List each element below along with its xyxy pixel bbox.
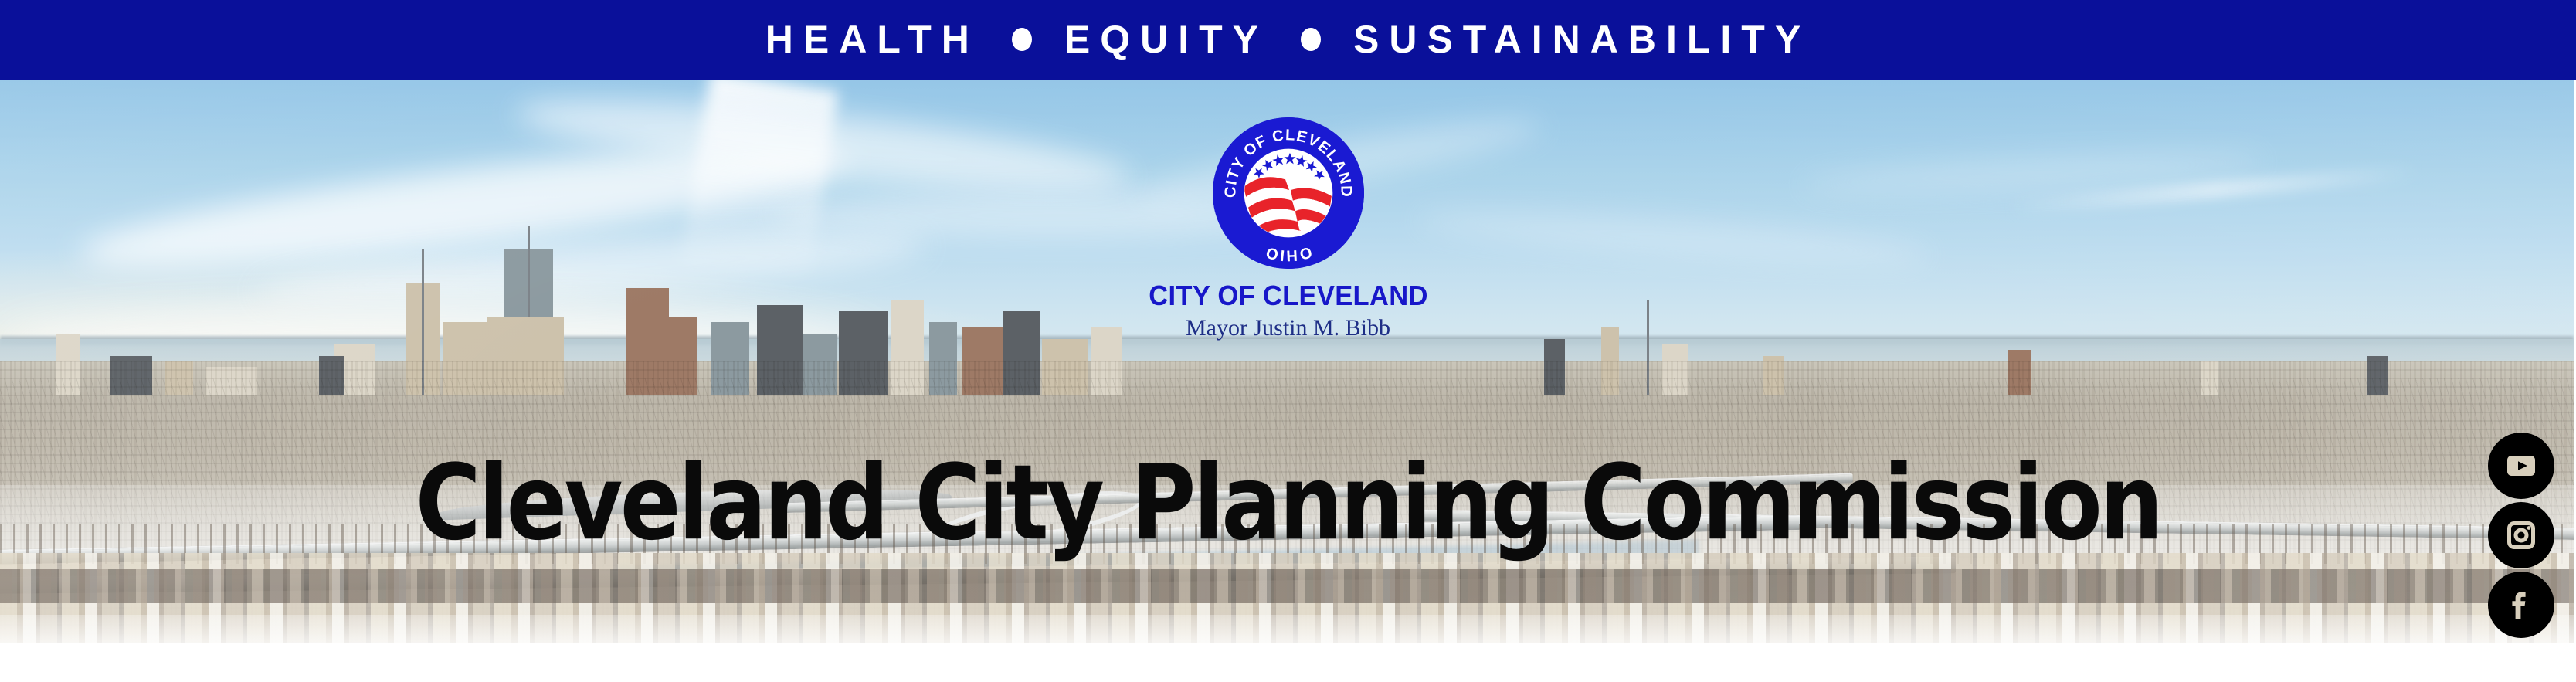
- page-title: Cleveland City Planning Commission: [91, 459, 2486, 548]
- city-brand-lockup: CITY OF CLEVELAND OHIO: [1072, 117, 1505, 341]
- foreground-snow: [0, 615, 2574, 643]
- youtube-icon: [2501, 446, 2541, 486]
- instagram-icon: [2501, 515, 2541, 555]
- tagline-word-sustainability: SUSTAINABILITY: [1353, 20, 1811, 59]
- bullet-dot-icon: [1012, 28, 1032, 51]
- city-of-cleveland-seal-icon: CITY OF CLEVELAND OHIO: [1213, 117, 1364, 269]
- organization-name: CITY OF CLEVELAND: [1081, 280, 1496, 312]
- facebook-icon: [2501, 585, 2541, 625]
- youtube-link[interactable]: [2488, 433, 2554, 499]
- bullet-dot-icon: [1301, 28, 1321, 51]
- tagline-banner: HEALTH EQUITY SUSTAINABILITY: [0, 0, 2576, 80]
- mayor-name: Mayor Justin M. Bibb: [1072, 315, 1505, 341]
- foreground-roofs: [0, 569, 2574, 603]
- page-root: HEALTH EQUITY SUSTAINABILITY: [0, 0, 2576, 682]
- instagram-link[interactable]: [2488, 502, 2554, 568]
- page-title-text: Cleveland City Planning Commission: [416, 452, 2161, 556]
- tagline-inner: HEALTH EQUITY SUSTAINABILITY: [765, 20, 1811, 59]
- tagline-word-equity: EQUITY: [1064, 20, 1268, 59]
- social-links-rail: [2488, 433, 2554, 638]
- facebook-link[interactable]: [2488, 572, 2554, 638]
- tagline-word-health: HEALTH: [765, 20, 979, 59]
